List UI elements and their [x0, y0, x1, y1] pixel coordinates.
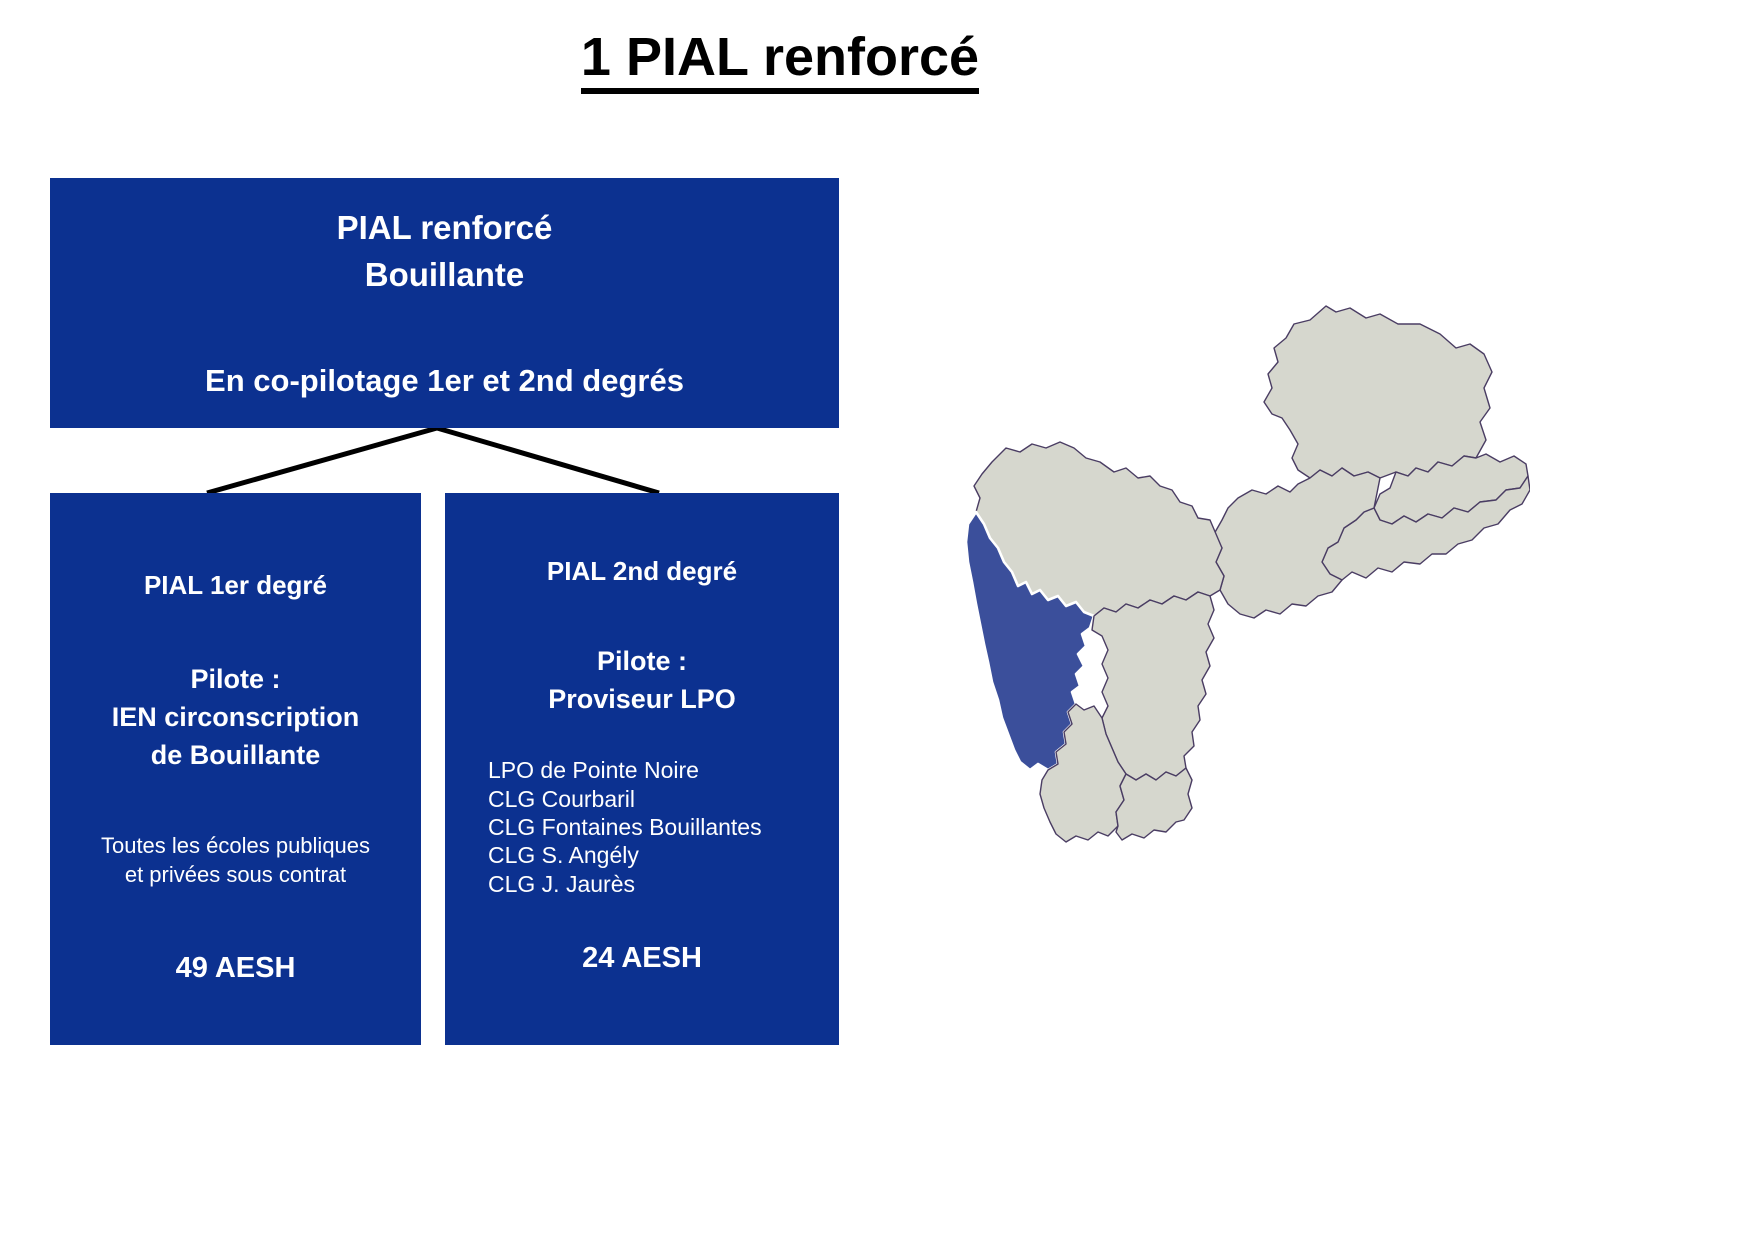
- pial-renforce-box: PIAL renforcé Bouillante En co-pilotage …: [50, 178, 839, 428]
- pial-copilot-line: En co-pilotage 1er et 2nd degrés: [50, 363, 839, 399]
- page-title-text: 1 PIAL renforcé: [581, 29, 979, 94]
- guadeloupe-map: [880, 262, 1530, 882]
- map-region-basse-terre-southeast: [1116, 768, 1192, 840]
- pial-2nd-pilot-value: Proviseur LPO: [455, 680, 829, 718]
- list-item: CLG S. Angély: [488, 841, 829, 869]
- pial-1er-degre-box: PIAL 1er degré Pilote : IEN circonscript…: [50, 493, 421, 1045]
- pial-name-line-1: PIAL renforcé: [50, 205, 839, 252]
- list-item: CLG J. Jaurès: [488, 870, 829, 898]
- pial-1er-scope: Toutes les écoles publiques et privées s…: [60, 831, 411, 890]
- pial-1er-pilot-line-2: de Bouillante: [60, 736, 411, 774]
- pial-2nd-school-list: LPO de Pointe Noire CLG Courbaril CLG Fo…: [455, 756, 829, 897]
- list-item: LPO de Pointe Noire: [488, 756, 829, 784]
- connector-left: [207, 428, 437, 493]
- pial-1er-scope-line-1: Toutes les écoles publiques: [60, 831, 411, 861]
- pial-1er-pilot-group: Pilote : IEN circonscription de Bouillan…: [60, 660, 411, 775]
- pial-2nd-pilot-group: Pilote : Proviseur LPO: [455, 642, 829, 719]
- pial-1er-aesh-count: 49 AESH: [60, 952, 411, 985]
- list-item: CLG Courbaril: [488, 785, 829, 813]
- pial-name-line-2: Bouillante: [50, 252, 839, 299]
- pial-2nd-degre-box: PIAL 2nd degré Pilote : Proviseur LPO LP…: [445, 493, 839, 1045]
- list-item: CLG Fontaines Bouillantes: [488, 813, 829, 841]
- pial-2nd-heading: PIAL 2nd degré: [455, 555, 829, 589]
- pial-1er-scope-line-2: et privées sous contrat: [60, 860, 411, 890]
- pial-1er-pilot-line-1: IEN circonscription: [60, 698, 411, 736]
- pial-2nd-pilot-label: Pilote :: [455, 642, 829, 680]
- pial-2nd-aesh-count: 24 AESH: [455, 942, 829, 975]
- guadeloupe-map-svg: [880, 262, 1530, 882]
- connector-right: [437, 428, 659, 493]
- page-title: 1 PIAL renforcé: [0, 26, 1560, 94]
- pial-1er-pilot-label: Pilote :: [60, 660, 411, 698]
- pial-1er-heading: PIAL 1er degré: [60, 569, 411, 603]
- map-region-grande-terre-north: [1264, 306, 1492, 478]
